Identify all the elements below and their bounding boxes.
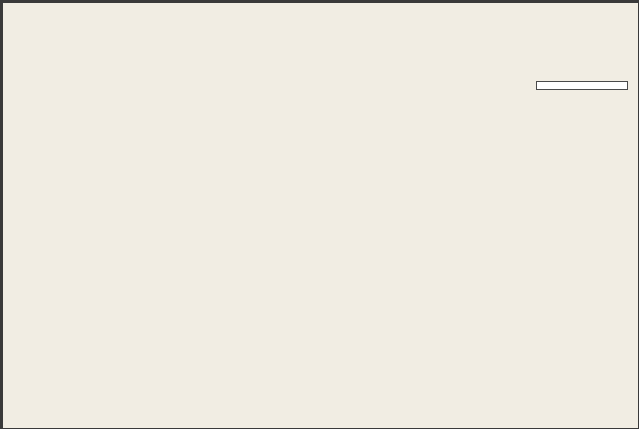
probability-plot xyxy=(3,3,639,437)
plot-svg xyxy=(3,3,639,432)
chart-window xyxy=(0,0,639,429)
statistics-box xyxy=(536,81,628,90)
